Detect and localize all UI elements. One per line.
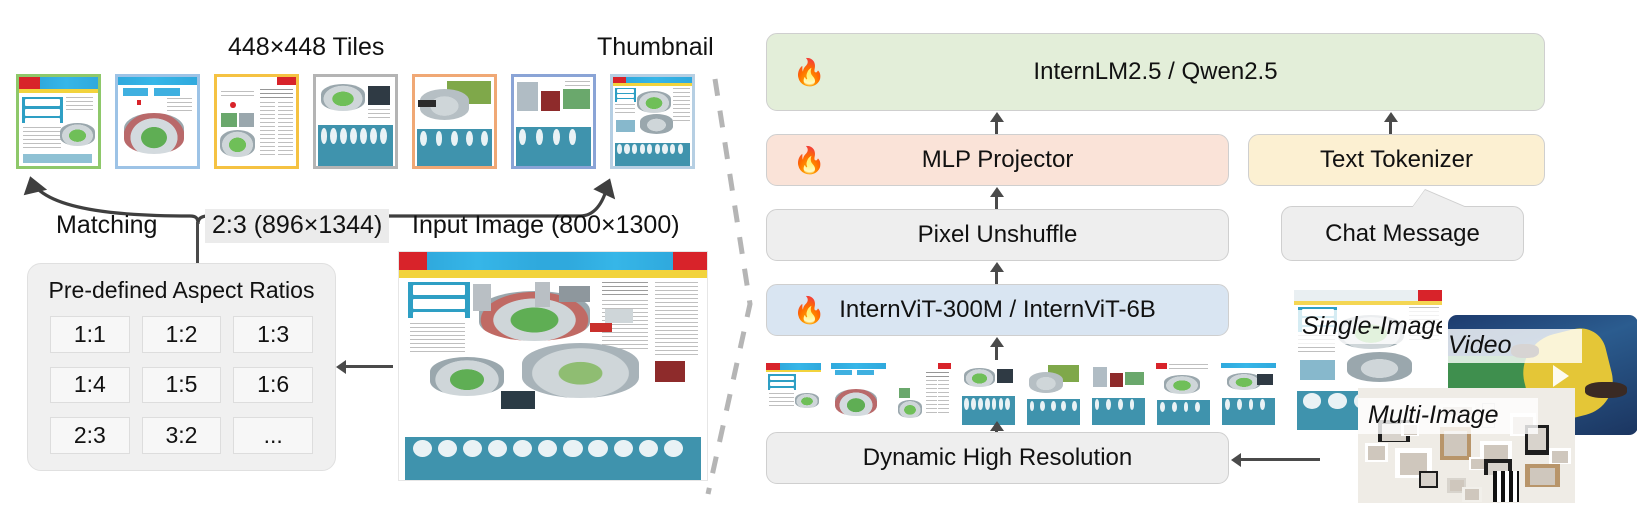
aspect-ratio-cell[interactable]: 1:3 (233, 316, 313, 353)
aspect-ratio-title: Pre-defined Aspect Ratios (28, 277, 335, 304)
dynamic-high-resolution-label: Dynamic High Resolution (863, 444, 1132, 472)
tile-strip-item (961, 363, 1016, 425)
thumbnail-tile (610, 74, 695, 169)
flame-icon: 🔥 (793, 59, 825, 85)
text-tokenizer-label: Text Tokenizer (1320, 146, 1473, 174)
tile-2 (115, 74, 200, 169)
dynamic-high-resolution-box[interactable]: Dynamic High Resolution (766, 432, 1229, 484)
aspect-ratio-panel: Pre-defined Aspect Ratios 1:1 1:2 1:3 1:… (27, 263, 336, 471)
mlp-projector-label: MLP Projector (922, 146, 1074, 174)
tile-strip-item (831, 363, 886, 425)
internvit-label: InternViT-300M / InternViT-6B (839, 296, 1156, 324)
tile-strip-item (1221, 363, 1276, 425)
single-image-caption: Single-Image (1302, 312, 1442, 341)
aspect-ratio-cell[interactable]: 1:4 (50, 367, 130, 404)
flame-icon: 🔥 (793, 297, 825, 323)
tile-strip-item (1156, 363, 1211, 425)
aspect-ratio-cell[interactable]: 2:3 (50, 417, 130, 454)
aspect-ratio-cell[interactable]: 1:6 (233, 367, 313, 404)
internvit-box[interactable]: 🔥 InternViT-300M / InternViT-6B (766, 284, 1229, 336)
llm-box[interactable]: 🔥 InternLM2.5 / Qwen2.5 (766, 33, 1545, 111)
selected-ratio-pill: 2:3 (896×1344) (205, 209, 389, 243)
tile-strip-item (1091, 363, 1146, 425)
play-icon[interactable] (1553, 365, 1569, 387)
text-tokenizer-box[interactable]: Text Tokenizer (1248, 134, 1545, 186)
tile-1 (16, 74, 101, 169)
diagram-root: 448×448 Tiles Thumbnail (0, 0, 1637, 525)
input-image (398, 251, 708, 481)
brace-stem (196, 222, 199, 264)
multi-image-caption: Multi-Image (1368, 401, 1499, 430)
tiles-to-vit-arrow (995, 346, 998, 360)
aspect-ratio-cell[interactable]: 1:5 (142, 367, 222, 404)
media-to-dhr-arrow (1240, 458, 1320, 461)
input-image-label: Input Image (800×1300) (412, 211, 680, 240)
tile-6 (511, 74, 596, 169)
llm-box-label: InternLM2.5 / Qwen2.5 (1033, 58, 1277, 86)
aspect-ratio-cell[interactable]: 1:2 (142, 316, 222, 353)
tile-strip-item (896, 363, 951, 425)
chat-message-bubble[interactable]: Chat Message (1281, 206, 1524, 261)
tile-3 (214, 74, 299, 169)
mlp-projector-box[interactable]: 🔥 MLP Projector (766, 134, 1229, 186)
tile-strip-item (1026, 363, 1081, 425)
tile-strip-item (766, 363, 821, 425)
tiles-header: 448×448 Tiles (228, 33, 384, 62)
matching-label: Matching (56, 211, 157, 240)
tile-5 (412, 74, 497, 169)
thumbnail-header: Thumbnail (597, 33, 714, 62)
chat-message-label: Chat Message (1325, 220, 1480, 248)
video-caption: Video (1448, 331, 1512, 360)
multi-image-thumb: Multi-Image (1358, 388, 1575, 503)
aspect-ratio-cell[interactable]: 1:1 (50, 316, 130, 353)
aspect-ratio-cell[interactable]: 3:2 (142, 417, 222, 454)
bubble-tail-icon (1412, 190, 1467, 208)
aspect-ratio-grid: 1:1 1:2 1:3 1:4 1:5 1:6 2:3 3:2 ... (50, 316, 313, 454)
aspect-ratio-cell[interactable]: ... (233, 417, 313, 454)
input-to-ratios-arrow (345, 365, 393, 368)
pixel-unshuffle-box[interactable]: Pixel Unshuffle (766, 209, 1229, 261)
pixel-unshuffle-label: Pixel Unshuffle (918, 221, 1078, 249)
flame-icon: 🔥 (793, 147, 825, 173)
tile-4 (313, 74, 398, 169)
